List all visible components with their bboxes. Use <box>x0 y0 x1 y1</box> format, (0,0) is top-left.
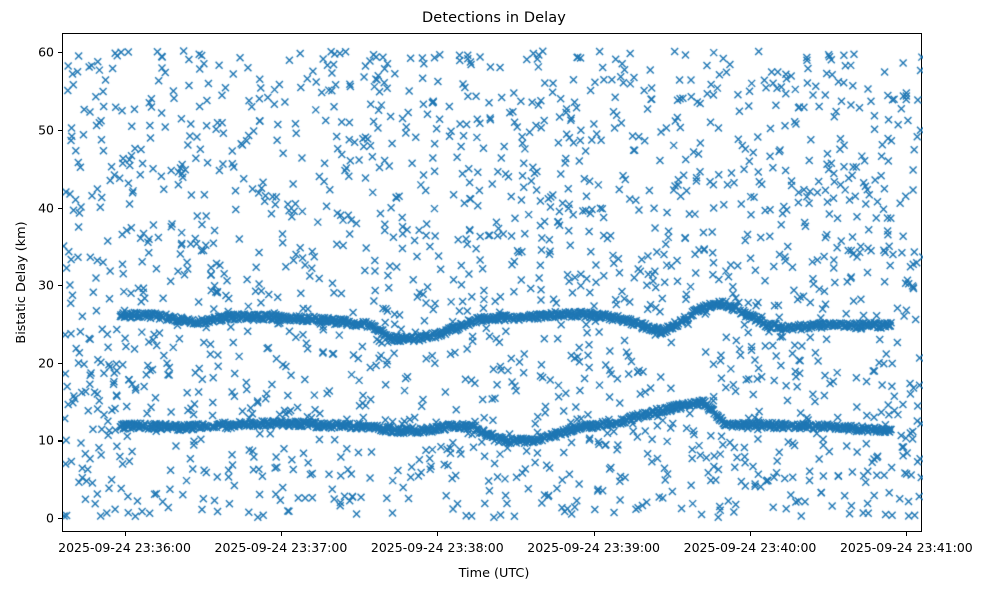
x-tick-label: 2025-09-24 23:37:00 <box>215 540 348 555</box>
page-title: Detections in Delay <box>0 10 988 26</box>
plot-area <box>62 33 922 532</box>
x-tick-label: 2025-09-24 23:36:00 <box>58 540 191 555</box>
y-tick-label: 50 <box>16 123 54 138</box>
x-tick-label: 2025-09-24 23:41:00 <box>840 540 973 555</box>
x-tick-label: 2025-09-24 23:39:00 <box>527 540 660 555</box>
scatter-plot-canvas <box>63 34 923 533</box>
y-tick-label: 0 <box>16 511 54 526</box>
y-tick-label: 10 <box>16 433 54 448</box>
y-tick-label: 20 <box>16 355 54 370</box>
x-tick-label: 2025-09-24 23:38:00 <box>371 540 504 555</box>
x-axis-label: Time (UTC) <box>0 566 988 581</box>
y-axis-label: Bistatic Delay (km) <box>14 221 29 343</box>
y-tick-label: 40 <box>16 200 54 215</box>
x-tick-label: 2025-09-24 23:40:00 <box>684 540 817 555</box>
matplotlib-figure: Detections in Delay 0102030405060 2025-0… <box>0 0 988 590</box>
y-tick-label: 60 <box>16 45 54 60</box>
